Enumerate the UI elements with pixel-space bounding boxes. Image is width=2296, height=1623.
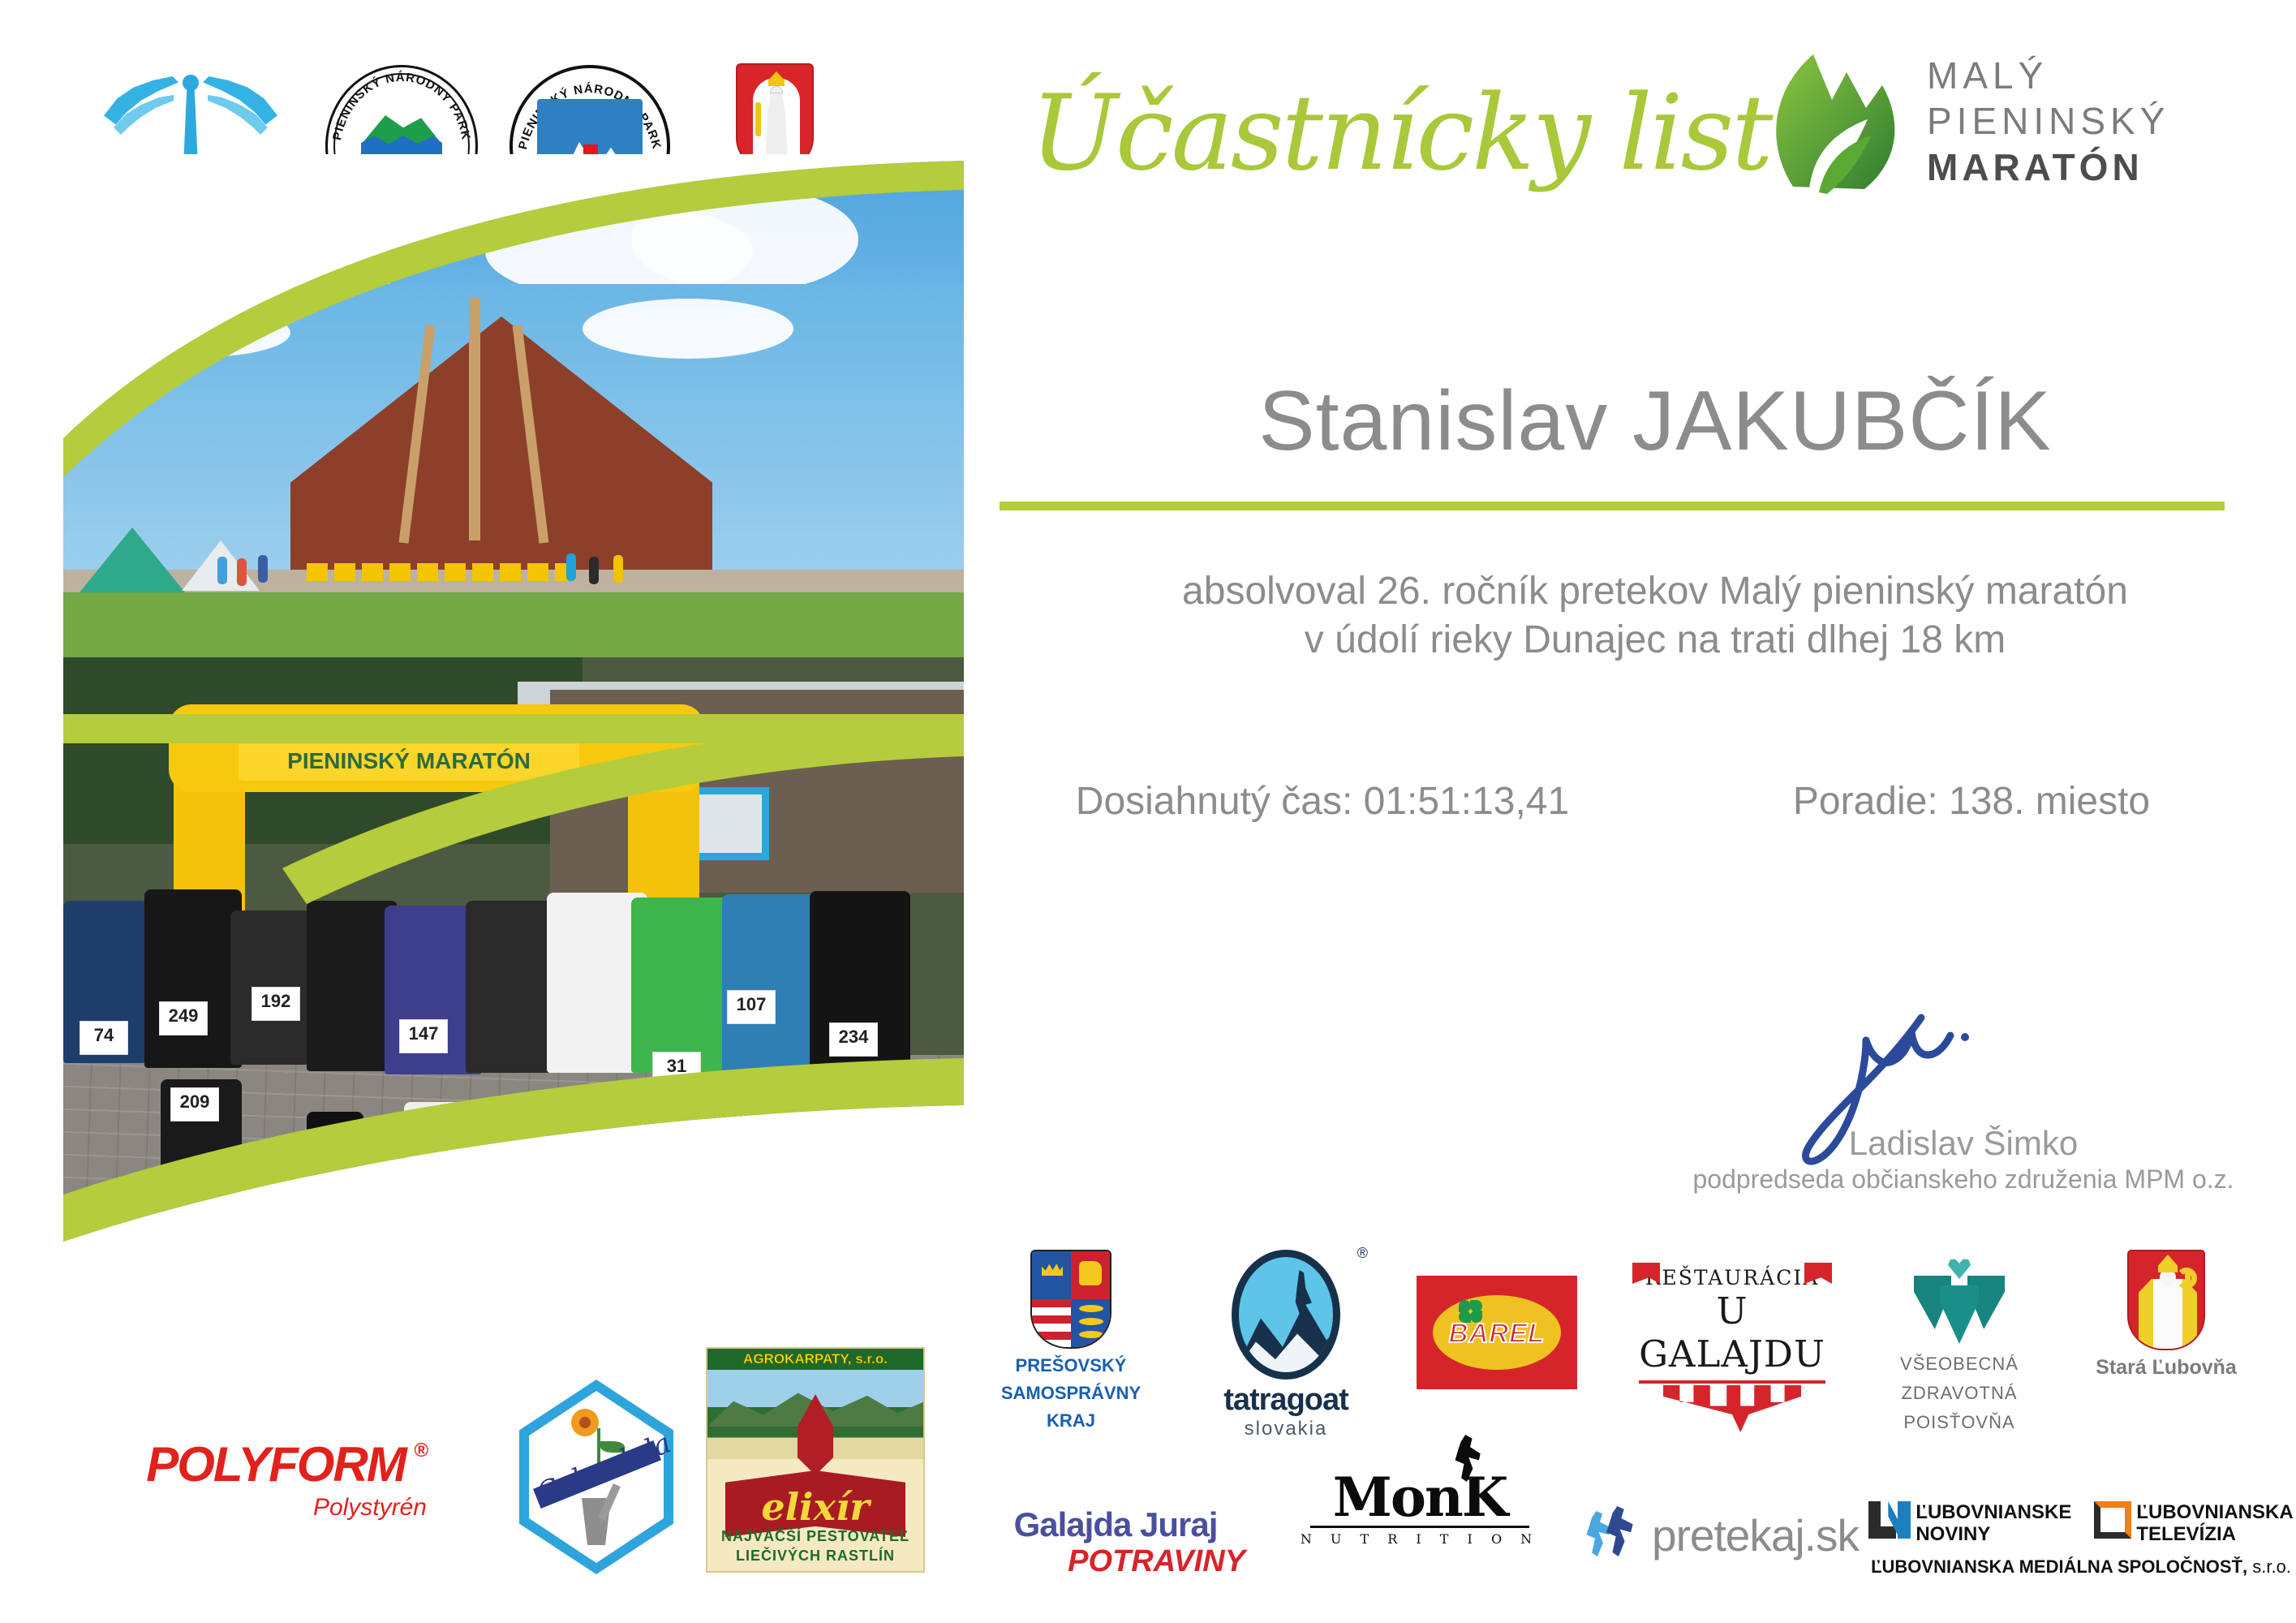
sponsor-agrokarpaty-elixir: AGROKARPATY, s.r.o. PLAVNICA elixír NAJV… <box>706 1347 941 1582</box>
barel-logo-icon: BAREL <box>1417 1276 1577 1389</box>
sponsor-sublabel: LIEČIVÝCH RASTLÍN <box>707 1548 923 1565</box>
sponsor-label: pretekaj.sk <box>1652 1509 1859 1561</box>
description-line-1: absolvoval 26. ročník pretekov Malý pien… <box>1030 568 2280 615</box>
sponsor-restauracia-u-galajdu: REŠTAURÁCIA U GALAJDU <box>1631 1266 1834 1432</box>
angel-icon <box>89 63 292 161</box>
page-title: Účastnícky list <box>1030 57 1728 211</box>
sponsor-label-wrap: POLYFORM ® <box>146 1436 406 1492</box>
accent-rule <box>1000 502 2225 510</box>
stara-lubovna-coat-of-arms-icon <box>2127 1250 2205 1350</box>
sponsor-tatragoat: ® tatragoat slovakia <box>1193 1250 1379 1440</box>
ln-logo-icon <box>1868 1501 1911 1539</box>
sponsor-label: PREŠOVSKÝ <box>986 1355 1156 1376</box>
registered-mark: ® <box>414 1440 427 1462</box>
sponsor-pretekaj-sk: pretekaj.sk <box>1582 1509 1858 1566</box>
signatory-name: Ladislav Šimko <box>1623 1124 2296 1163</box>
sponsor-label: U GALAJDU <box>1631 1289 1834 1375</box>
sponsor-label: BAREL <box>1433 1318 1561 1349</box>
sponsor-calendula: Calendula <box>503 1380 690 1582</box>
event-logo: MALÝ PIENINSKÝ MARATÓN <box>1769 45 2272 195</box>
sponsor-label: Galajda Juraj <box>986 1505 1245 1544</box>
sponsor-label: SAMOSPRÁVNY <box>986 1383 1156 1404</box>
elixir-card-icon: AGROKARPATY, s.r.o. PLAVNICA elixír NAJV… <box>706 1347 925 1573</box>
signatory-role: podpredseda občianskeho združenia MPM o.… <box>1623 1165 2296 1195</box>
goat-mountain-icon <box>1232 1250 1340 1380</box>
sponsor-label: TELEVÍZIA <box>2136 1523 2293 1545</box>
sponsor-sublabel: slovakia <box>1193 1418 1379 1440</box>
sponsor-label: POISŤOVŇA <box>1874 1410 2044 1435</box>
registered-mark: ® <box>1357 1245 1368 1262</box>
result-place: Poradie: 138. miesto <box>1663 779 2280 824</box>
green-swoosh-overlays <box>63 154 964 1404</box>
leaf-mountain-icon <box>1769 45 1911 195</box>
result-time: Dosiahnutý čas: 01:51:13,41 <box>1014 779 1631 824</box>
sponsor-label: POLYFORM <box>146 1437 406 1492</box>
sponsor-sublabel-main: ĽUBOVNIANSKA MEDIÁLNA SPOLOČNOSŤ, <box>1871 1556 2247 1577</box>
event-logo-line2: PIENINSKÝ <box>1927 98 2268 144</box>
sponsor-label: VŠEOBECNÁ <box>1874 1352 2044 1376</box>
sponsor-label: Stará Ľubovňa <box>2085 1357 2247 1378</box>
description-line-2: v údolí rieky Dunajec na trati dlhej 18 … <box>1030 617 2280 664</box>
runners-icon <box>1582 1506 1642 1560</box>
sponsor-label: ZDRAVOTNÁ <box>1874 1381 2044 1406</box>
signature-block: Ladislav Šimko podpredseda občianskeho z… <box>1623 998 2296 1201</box>
sponsor-polyform: POLYFORM ® Polystyrén <box>105 1436 446 1522</box>
sponsor-barel: BAREL <box>1408 1276 1586 1389</box>
sponsor-label: MonK <box>1298 1469 1541 1526</box>
sponsor-sublabel: N U T R I T I O N <box>1298 1531 1541 1547</box>
certificate-page: KÚPELE ČERVENÝ KLÁŠTOR Smerdžonka PIENIN… <box>0 0 2296 1623</box>
divider <box>1639 1380 1825 1384</box>
sponsor-sublabel-suffix: s.r.o. <box>2247 1556 2291 1577</box>
sponsor-label: POTRAVINY <box>986 1544 1245 1579</box>
sponsor-vseobecna-zdravotna-poistovna: VŠEOBECNÁ ZDRAVOTNÁ POISŤOVŇA <box>1874 1258 2044 1435</box>
sponsor-label: REŠTAURÁCIA <box>1631 1266 1834 1289</box>
sponsor-sublabel: ĽUBOVNIANSKA MEDIÁLNA SPOLOČNOSŤ, s.r.o. <box>1866 1556 2296 1578</box>
sponsor-label: KRAJ <box>986 1410 1156 1431</box>
sponsor-label: ĽUBOVNIANSKA <box>2136 1501 2293 1523</box>
sponsor-lubovnianska-medialna-spolocnost: ĽUBOVNIANSKE NOVINY ĽUBOVNIANSKA TELEVÍZ… <box>1866 1501 2296 1578</box>
sponsor-presovsky-samospravny-kraj: PREŠOVSKÝ SAMOSPRÁVNY KRAJ <box>986 1250 1156 1431</box>
event-photo-collage: MALÝ PIENINSKÝ MARATÓN 249 74 192 147 31… <box>63 154 964 1404</box>
sponsor-label: elixír <box>725 1485 905 1529</box>
sponsor-label: NOVINY <box>1915 1523 2071 1545</box>
sponsor-label: AGROKARPATY, s.r.o. PLAVNICA <box>707 1349 923 1370</box>
event-logo-line3: MARATÓN <box>1927 144 2268 191</box>
sponsor-galajda-juraj-potraviny: Galajda Juraj POTRAVINY <box>986 1505 1245 1579</box>
event-logo-line1: MALÝ <box>1927 53 2268 98</box>
vzp-v-heart-icon <box>1911 1258 2008 1347</box>
folk-ornament-icon <box>1663 1385 1801 1432</box>
runner-name: Stanislav JAKUBČÍK <box>1030 373 2280 470</box>
sponsor-stara-lubovna: Stará Ľubovňa <box>2085 1250 2247 1378</box>
calendula-hexagon-icon: Calendula <box>519 1380 673 1574</box>
lt-logo-icon <box>2094 1501 2131 1539</box>
sponsor-label: ĽUBOVNIANSKE <box>1915 1501 2071 1523</box>
sponsor-sublabel: Polystyrén <box>105 1494 446 1522</box>
psk-coat-of-arms-icon <box>1030 1250 1111 1349</box>
sponsor-label: tatragoat <box>1193 1383 1379 1418</box>
sponsor-sublabel: NAJVÄČŠÍ PESTOVATEĽ <box>707 1528 923 1545</box>
mountain-water-icon <box>361 112 442 157</box>
event-logo-text: MALÝ PIENINSKÝ MARATÓN <box>1927 53 2268 191</box>
sponsor-monk-nutrition: MonK N U T R I T I O N <box>1298 1469 1541 1547</box>
